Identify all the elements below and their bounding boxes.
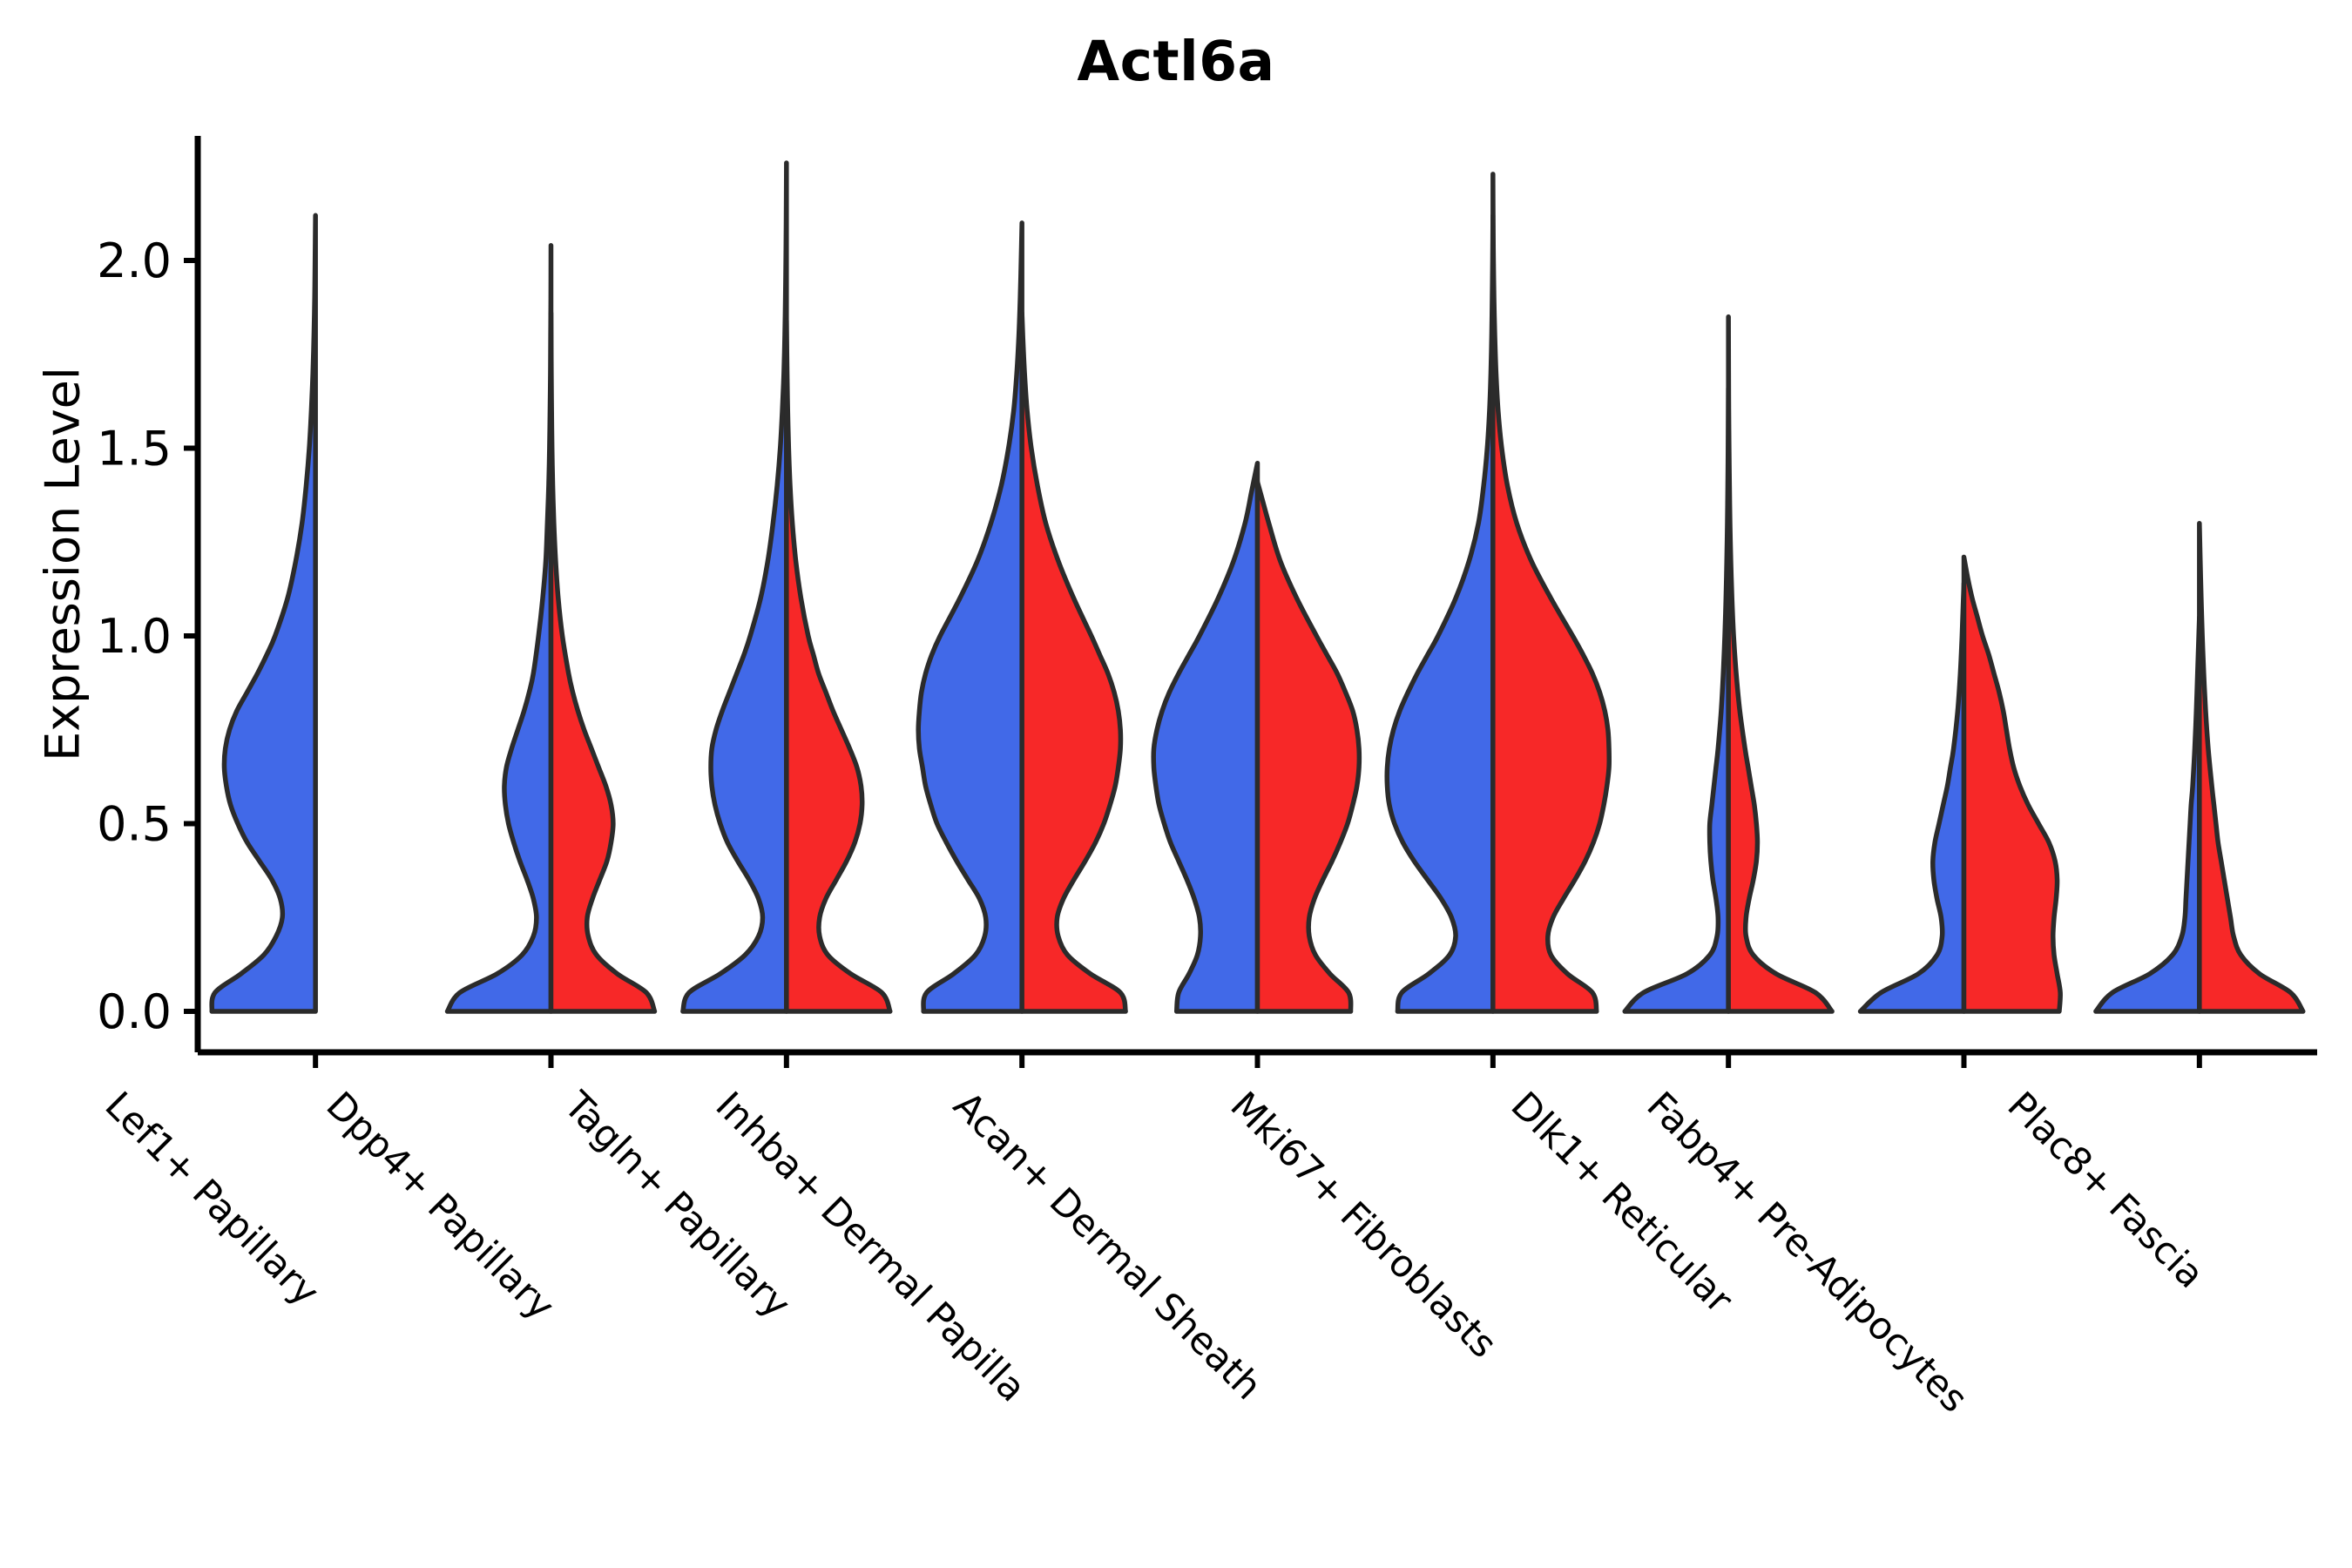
violin-8-group-a[interactable]: [2096, 617, 2200, 1011]
violin-6-group-a[interactable]: [1625, 389, 1728, 1011]
violin-3-group-b[interactable]: [1022, 313, 1125, 1011]
violin-1-group-b[interactable]: [551, 313, 655, 1011]
violin-5-group-b[interactable]: [1493, 174, 1609, 1011]
violin-8-group-b[interactable]: [2200, 524, 2303, 1011]
violin-1-group-a[interactable]: [448, 246, 551, 1011]
violin-5-group-a[interactable]: [1387, 215, 1493, 1011]
violin-7-group-b[interactable]: [1964, 557, 2061, 1011]
violin-0-group-a[interactable]: [212, 215, 315, 1011]
violin-6-group-b[interactable]: [1728, 317, 1832, 1011]
violin-2-group-b[interactable]: [787, 321, 890, 1011]
violin-7-group-a[interactable]: [1861, 584, 1964, 1011]
y-tick-label: 1.0: [97, 609, 172, 664]
violin-4-group-a[interactable]: [1153, 463, 1257, 1011]
violin-plot-figure: Actl6a Expression Level 0.00.51.01.52.0 …: [0, 0, 2352, 1568]
y-tick-label: 1.5: [97, 422, 172, 476]
violin-2-group-a[interactable]: [683, 163, 787, 1011]
violin-4-group-b[interactable]: [1258, 482, 1360, 1011]
violin-3-group-a[interactable]: [918, 223, 1022, 1011]
y-tick-label: 2.0: [97, 233, 172, 288]
y-tick-label: 0.0: [97, 984, 172, 1039]
violins-group: [212, 163, 2303, 1011]
y-tick-label: 0.5: [97, 797, 172, 852]
